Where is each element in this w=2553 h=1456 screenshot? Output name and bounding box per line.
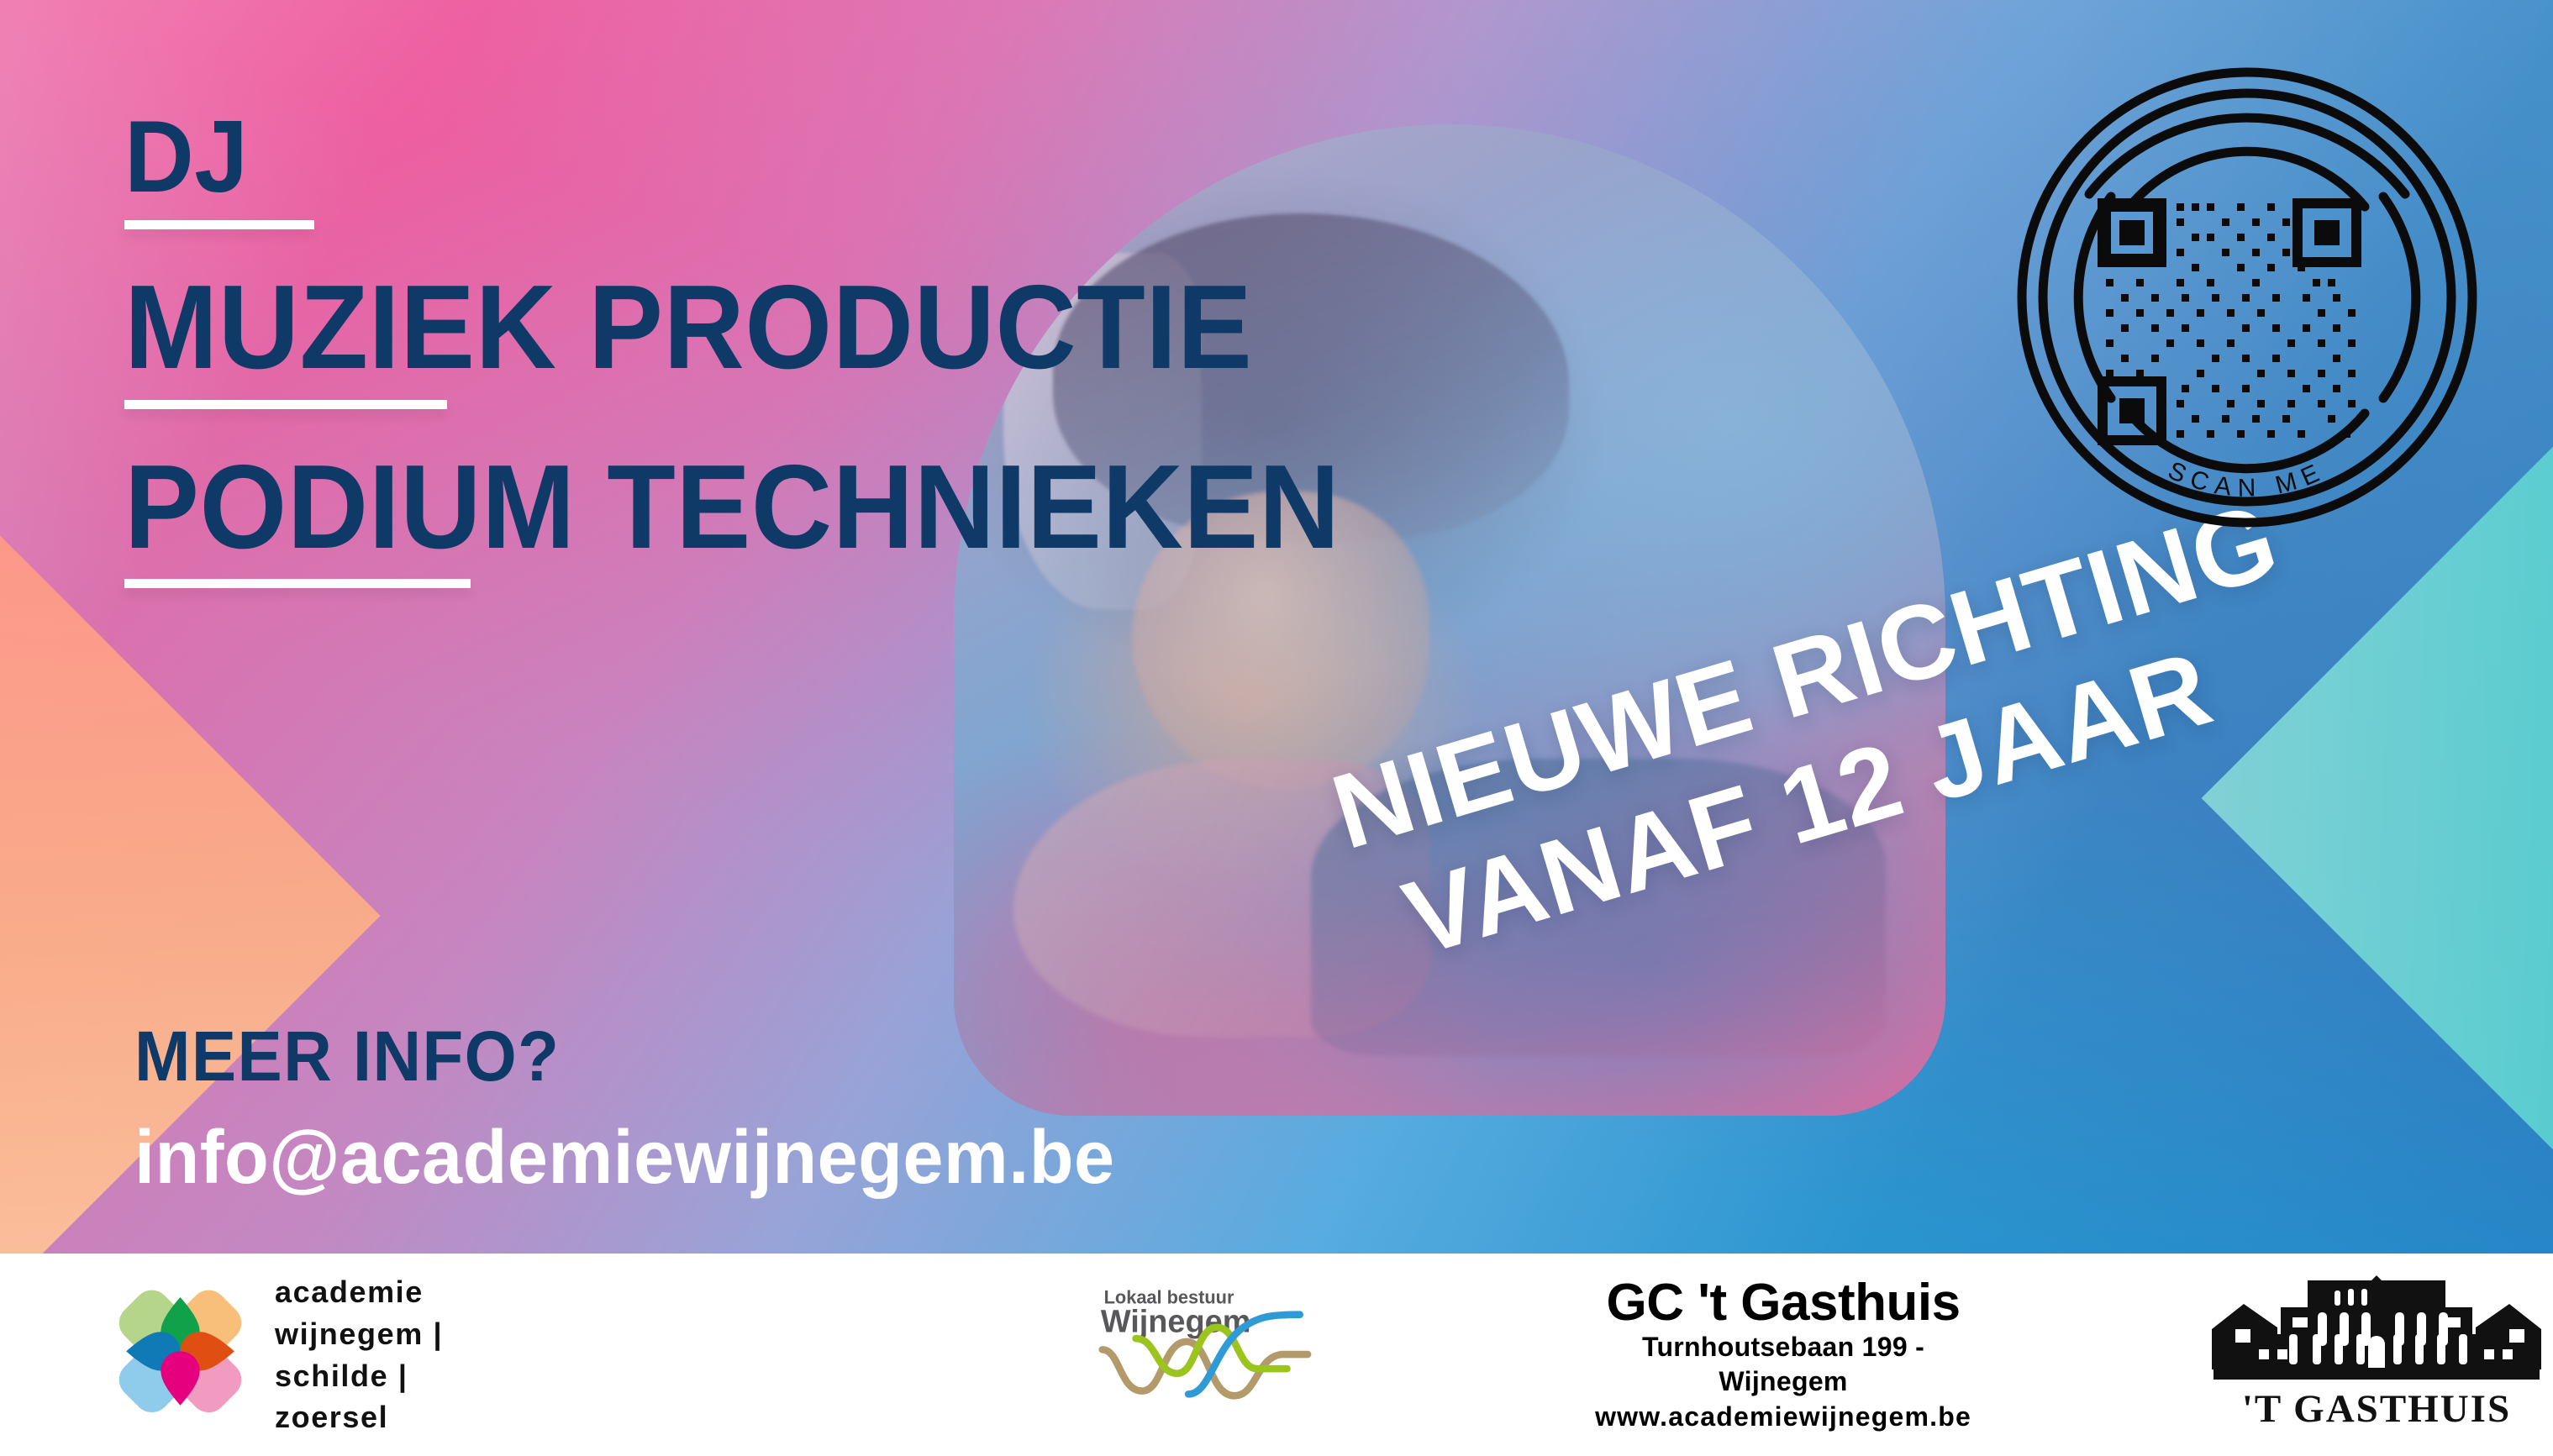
academie-word-line2: wijnegem | schilde | zoersel bbox=[275, 1313, 494, 1438]
academie-logo: academie wijnegem | schilde | zoersel bbox=[111, 1271, 494, 1438]
gasthuis-info: GC 't Gasthuis Turnhoutsebaan 199 - Wijn… bbox=[1595, 1275, 1971, 1435]
building-wordmark: 'T GASTHUIS bbox=[2242, 1387, 2511, 1431]
building-silhouette-icon: 'T GASTHUIS bbox=[2200, 1275, 2553, 1435]
poster-canvas: DJ MUZIEK PRODUCTIE PODIUM TECHNIEKEN NI… bbox=[0, 0, 2553, 1456]
gasthuis-website[interactable]: www.academiewijnegem.be bbox=[1595, 1400, 1971, 1435]
headline-line-dj: DJ bbox=[124, 109, 1862, 203]
contact-block: MEER INFO? info@academiewijnegem.be bbox=[134, 1021, 1155, 1196]
headline-line-muziek-productie: MUZIEK PRODUCTIE bbox=[124, 273, 1862, 383]
wijnegem-wave-icon: Lokaal bestuur Wijnegem bbox=[1066, 1280, 1343, 1431]
headline-line-podium-technieken: PODIUM TECHNIEKEN bbox=[124, 453, 1862, 563]
gasthuis-address: Turnhoutsebaan 199 - Wijnegem bbox=[1595, 1330, 1971, 1400]
headline-rule-3 bbox=[124, 579, 471, 588]
academie-word-line1: academie bbox=[275, 1271, 494, 1313]
wijnegem-logo: Lokaal bestuur Wijnegem bbox=[1066, 1280, 1343, 1431]
contact-email[interactable]: info@academiewijnegem.be bbox=[134, 1120, 1114, 1196]
qr-code-badge[interactable]: SCAN ME bbox=[2012, 62, 2482, 533]
academie-flower-icon bbox=[111, 1281, 250, 1428]
headline-rule-2 bbox=[124, 400, 447, 409]
headline-rule-1 bbox=[124, 220, 314, 229]
academie-wordmark: academie wijnegem | schilde | zoersel bbox=[275, 1271, 494, 1438]
gasthuis-building-logo: 'T GASTHUIS bbox=[2200, 1275, 2553, 1435]
gasthuis-name: GC 't Gasthuis bbox=[1595, 1275, 1971, 1330]
meer-info-label: MEER INFO? bbox=[134, 1021, 1104, 1091]
footer-bar: academie wijnegem | schilde | zoersel Lo… bbox=[0, 1254, 2553, 1456]
headline-block: DJ MUZIEK PRODUCTIE PODIUM TECHNIEKEN bbox=[124, 109, 1973, 588]
